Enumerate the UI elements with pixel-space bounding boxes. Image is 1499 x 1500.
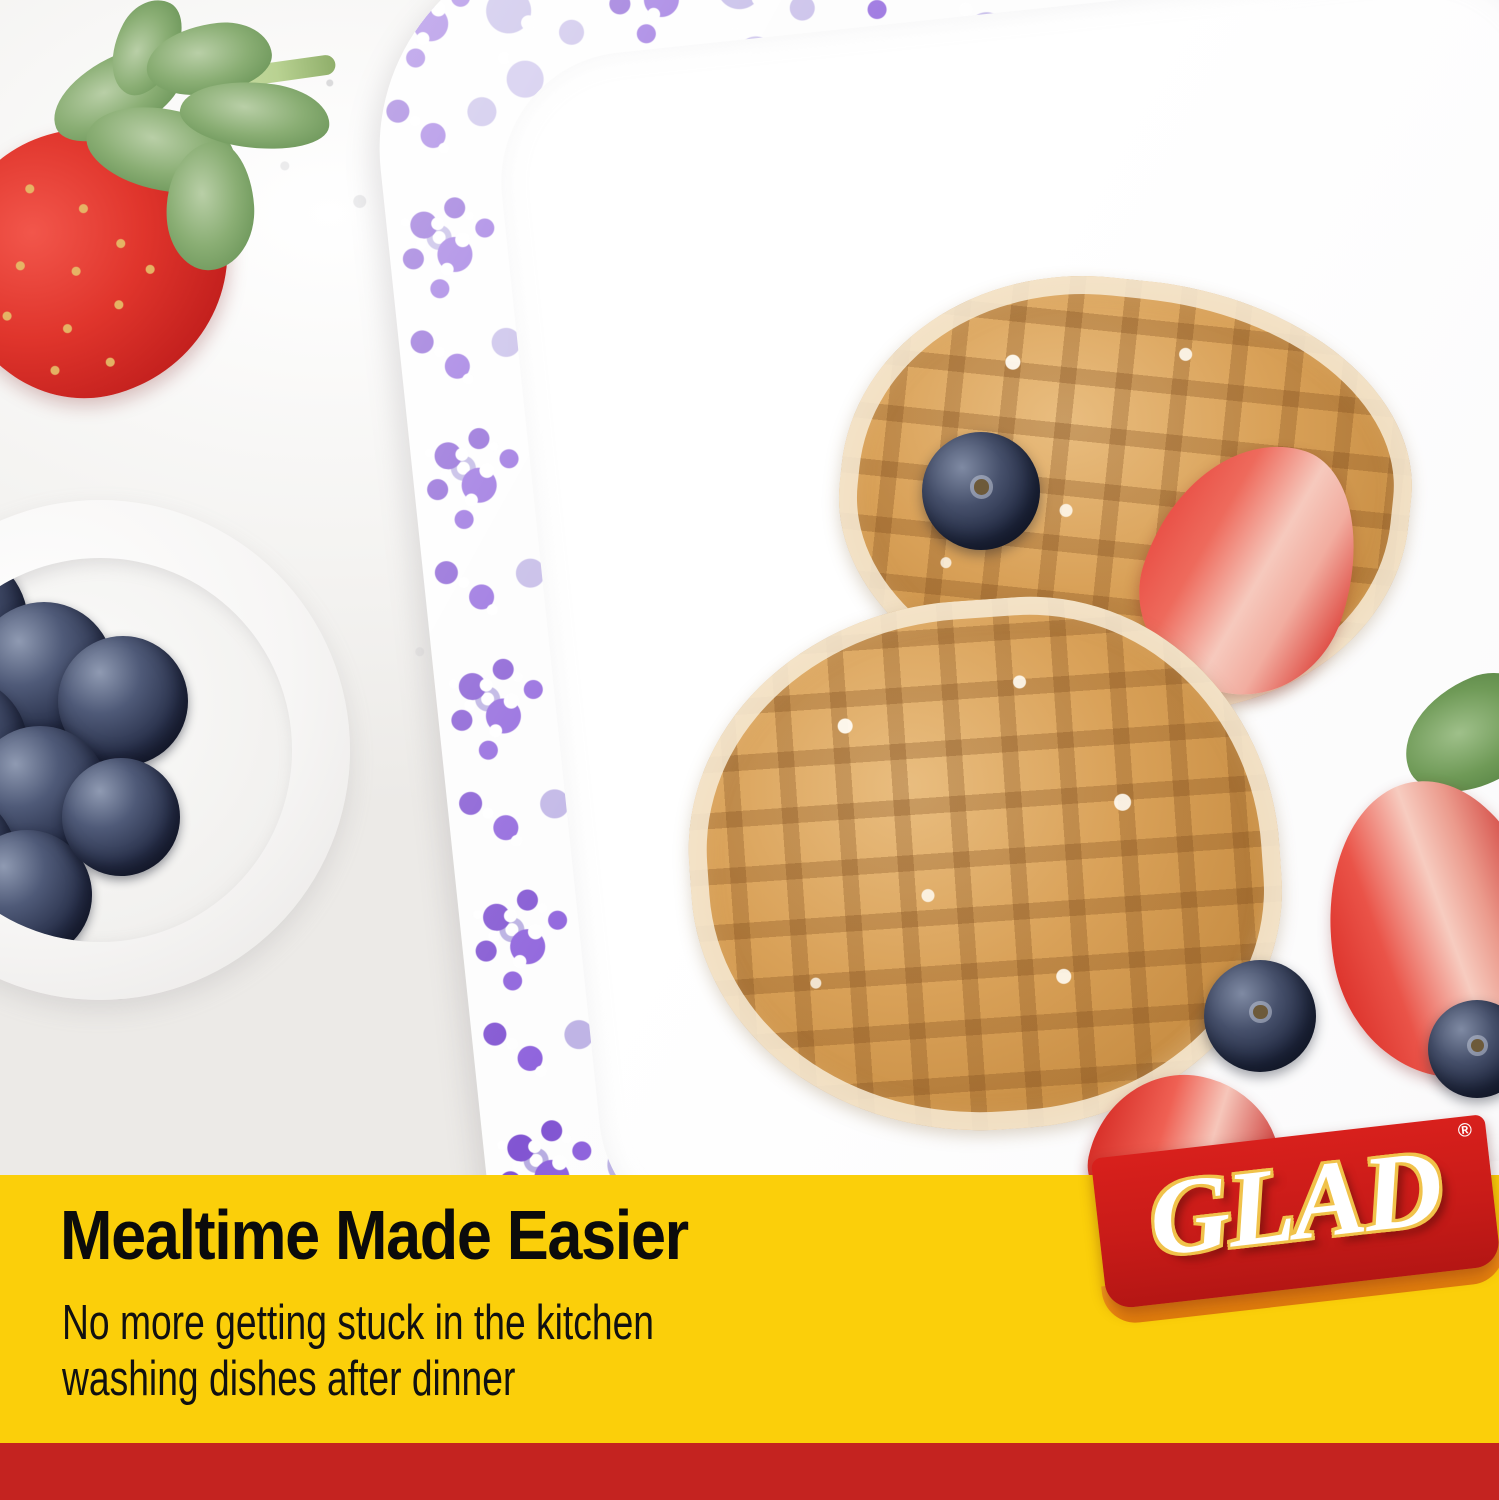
strawberry-calyx — [38, 10, 328, 240]
registered-trademark-icon: ® — [1457, 1120, 1473, 1143]
food-photograph — [0, 0, 1499, 1185]
blueberry-bowl — [0, 500, 350, 1000]
banner-headline: Mealtime Made Easier — [60, 1195, 688, 1275]
banner-subtext: No more getting stuck in the kitchen was… — [62, 1295, 654, 1407]
blueberry — [62, 758, 180, 876]
product-lifestyle-image: Mealtime Made Easier No more getting stu… — [0, 0, 1499, 1500]
blueberry-lower — [1204, 960, 1316, 1072]
footer-bar — [0, 1443, 1499, 1500]
bowl-interior — [0, 558, 292, 942]
blueberry-on-waffle — [922, 432, 1040, 550]
